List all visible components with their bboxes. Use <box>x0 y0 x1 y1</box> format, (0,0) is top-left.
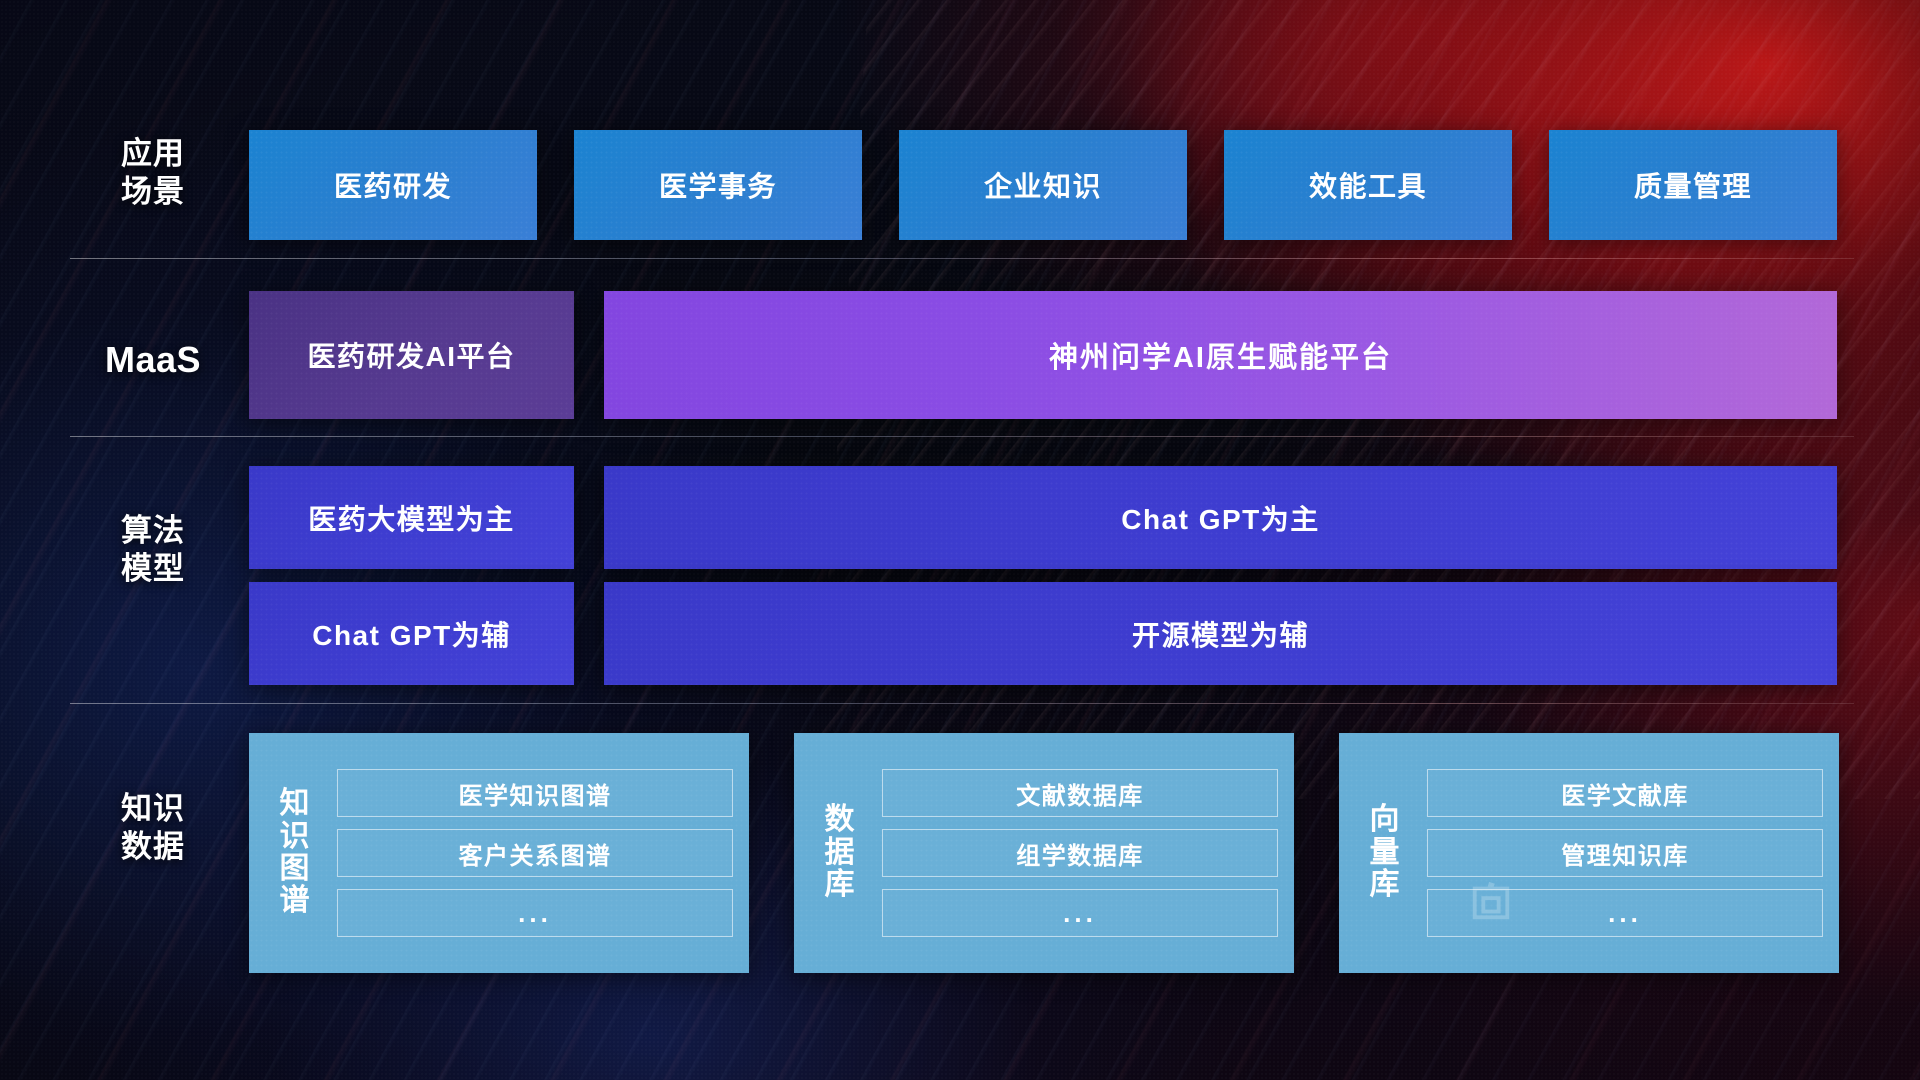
scenario-box-enterprise-knowledge[interactable]: 企业知识 <box>899 130 1187 240</box>
row-label-line-2: 场景 <box>78 173 228 211</box>
knowledge-item-list: 医学文献库 管理知识库 ... <box>1427 769 1823 937</box>
scenario-box-label: 效能工具 <box>1309 165 1427 205</box>
scenario-box-label: 医药研发 <box>334 165 452 205</box>
knowledge-block-title-char: 量 <box>1357 837 1413 869</box>
algo-box-label: 开源模型为辅 <box>1132 614 1309 654</box>
knowledge-item[interactable]: 客户关系图谱 <box>337 829 733 877</box>
row-label-line-1: 知识 <box>78 790 228 828</box>
knowledge-block-title-char: 图 <box>267 853 323 885</box>
algo-box-chatgpt-secondary[interactable]: Chat GPT为辅 <box>249 582 574 685</box>
architecture-diagram-canvas: 应用 场景 医药研发 医学事务 企业知识 效能工具 质量管理 MaaS 医药研发… <box>0 0 1920 1080</box>
knowledge-block-database[interactable]: 数 据 库 文献数据库 组学数据库 ... <box>794 733 1294 973</box>
knowledge-block-title-char: 库 <box>812 869 868 901</box>
divider-1 <box>70 258 1854 259</box>
algo-box-opensource-secondary[interactable]: 开源模型为辅 <box>604 582 1837 685</box>
row-label-application-scenarios: 应用 场景 <box>78 135 228 211</box>
knowledge-block-title-char: 谱 <box>267 885 323 917</box>
row-label-algorithm-models: 算法 模型 <box>78 512 228 588</box>
knowledge-block-title-char: 数 <box>812 804 868 836</box>
row-label-line-2: 模型 <box>78 550 228 588</box>
scenario-box-label: 质量管理 <box>1634 165 1752 205</box>
algo-box-chatgpt-primary[interactable]: Chat GPT为主 <box>604 466 1837 569</box>
maas-box-label: 医药研发AI平台 <box>307 335 515 375</box>
knowledge-block-title: 知 识 图 谱 <box>267 788 323 918</box>
knowledge-item[interactable]: 医学文献库 <box>1427 769 1823 817</box>
knowledge-block-vector-database[interactable]: 向 量 库 医学文献库 管理知识库 ... <box>1339 733 1839 973</box>
scenario-box-medical-affairs[interactable]: 医学事务 <box>574 130 862 240</box>
algo-box-label: Chat GPT为辅 <box>312 614 511 654</box>
knowledge-block-title: 数 据 库 <box>812 804 868 901</box>
knowledge-block-title-char: 据 <box>812 837 868 869</box>
scenario-box-efficiency-tools[interactable]: 效能工具 <box>1224 130 1512 240</box>
algo-box-label: Chat GPT为主 <box>1121 498 1320 538</box>
knowledge-item[interactable]: 医学知识图谱 <box>337 769 733 817</box>
row-label-line-2: 数据 <box>78 828 228 866</box>
row-label-line-1: 算法 <box>78 512 228 550</box>
knowledge-item[interactable]: 管理知识库 <box>1427 829 1823 877</box>
knowledge-item[interactable]: 组学数据库 <box>882 829 1278 877</box>
scenario-box-label: 医学事务 <box>659 165 777 205</box>
row-label-maas: MaaS <box>78 338 228 382</box>
knowledge-block-title-char: 识 <box>267 821 323 853</box>
knowledge-block-title-char: 库 <box>1357 869 1413 901</box>
knowledge-block-title-char: 向 <box>1357 804 1413 836</box>
maas-box-medicine-rd-ai-platform[interactable]: 医药研发AI平台 <box>249 291 574 419</box>
scenario-box-label: 企业知识 <box>984 165 1102 205</box>
divider-2 <box>70 436 1854 437</box>
divider-3 <box>70 703 1854 704</box>
row-label-line-1: 应用 <box>78 135 228 173</box>
knowledge-block-title-char: 知 <box>267 788 323 820</box>
scenario-box-quality-management[interactable]: 质量管理 <box>1549 130 1837 240</box>
knowledge-item-more[interactable]: ... <box>882 889 1278 937</box>
knowledge-item-list: 文献数据库 组学数据库 ... <box>882 769 1278 937</box>
maas-box-shenzhou-wenxue-platform[interactable]: 神州问学AI原生赋能平台 <box>604 291 1837 419</box>
algo-box-medicine-large-model-primary[interactable]: 医药大模型为主 <box>249 466 574 569</box>
algo-box-label: 医药大模型为主 <box>308 498 515 538</box>
knowledge-block-knowledge-graph[interactable]: 知 识 图 谱 医学知识图谱 客户关系图谱 ... <box>249 733 749 973</box>
row-label-text: MaaS <box>78 338 228 382</box>
knowledge-item-more[interactable]: ... <box>1427 889 1823 937</box>
knowledge-item[interactable]: 文献数据库 <box>882 769 1278 817</box>
scenario-box-medicine-rd[interactable]: 医药研发 <box>249 130 537 240</box>
knowledge-item-list: 医学知识图谱 客户关系图谱 ... <box>337 769 733 937</box>
maas-box-label: 神州问学AI原生赋能平台 <box>1049 334 1392 376</box>
knowledge-item-more[interactable]: ... <box>337 889 733 937</box>
row-label-knowledge-data: 知识 数据 <box>78 790 228 866</box>
knowledge-block-title: 向 量 库 <box>1357 804 1413 901</box>
